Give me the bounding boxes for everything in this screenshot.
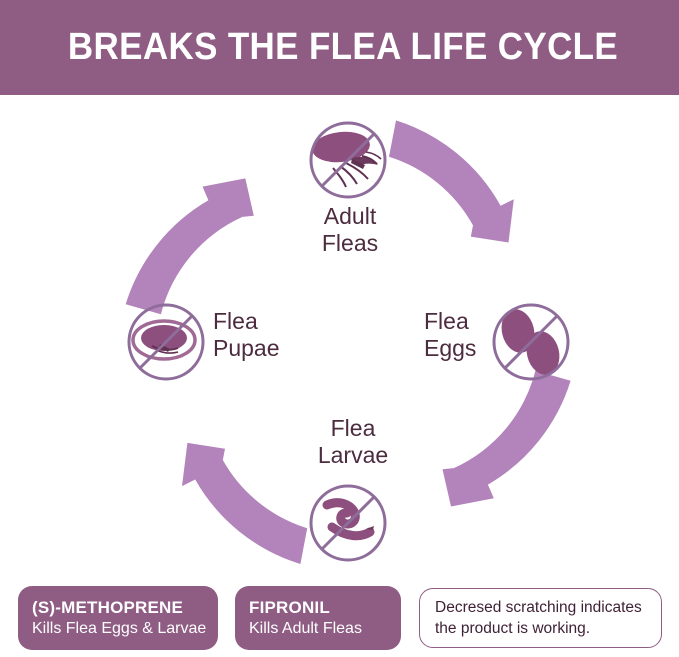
callout-methoprene-title: (S)-METHOPRENE xyxy=(32,597,204,618)
arc-eggs-to-larvae xyxy=(443,371,571,507)
stage-label-flea-eggs: Flea Eggs xyxy=(424,308,488,362)
header-banner: BREAKS THE FLEA LIFE CYCLE xyxy=(0,0,679,95)
callout-note-line1: Decresed scratching indicates xyxy=(435,597,647,618)
arc-pupae-to-adult xyxy=(126,178,254,314)
arc-larvae-to-pupae xyxy=(182,443,307,564)
stage-label-flea-pupae: Flea Pupae xyxy=(213,308,313,362)
cycle-graphic xyxy=(0,95,679,570)
stage-label-line1: Flea xyxy=(213,308,313,335)
stage-label-line2: Fleas xyxy=(304,230,396,257)
no-flea-larvae-icon xyxy=(311,486,385,560)
stage-label-adult-fleas: Adult Fleas xyxy=(304,203,396,257)
callout-note: Decresed scratching indicates the produc… xyxy=(419,588,662,648)
callout-methoprene: (S)-METHOPRENE Kills Flea Eggs & Larvae xyxy=(18,586,218,650)
no-flea-pupae-icon xyxy=(129,305,203,379)
stage-label-line1: Flea xyxy=(424,308,488,335)
arc-adult-to-eggs xyxy=(389,120,514,242)
no-adult-flea-icon xyxy=(311,123,385,197)
stage-label-line2: Larvae xyxy=(311,442,395,469)
stage-label-flea-larvae: Flea Larvae xyxy=(311,415,395,469)
callout-fipronil-subtitle: Kills Adult Fleas xyxy=(249,618,387,639)
stage-label-line1: Flea xyxy=(311,415,395,442)
callout-note-line2: the product is working. xyxy=(435,618,647,639)
footer-callouts: (S)-METHOPRENE Kills Flea Eggs & Larvae … xyxy=(0,584,679,657)
callout-fipronil-title: FIPRONIL xyxy=(249,597,387,618)
page-title: BREAKS THE FLEA LIFE CYCLE xyxy=(68,26,618,69)
stage-label-line2: Eggs xyxy=(424,335,488,362)
stage-label-line2: Pupae xyxy=(213,335,313,362)
stage-label-line1: Adult xyxy=(304,203,396,230)
no-flea-eggs-icon xyxy=(494,305,568,379)
callout-fipronil: FIPRONIL Kills Adult Fleas xyxy=(235,586,401,650)
callout-methoprene-subtitle: Kills Flea Eggs & Larvae xyxy=(32,618,204,639)
flea-life-cycle-diagram: Adult Fleas Flea Eggs Flea Larvae Flea P… xyxy=(0,95,679,570)
cycle-arcs xyxy=(126,120,571,564)
